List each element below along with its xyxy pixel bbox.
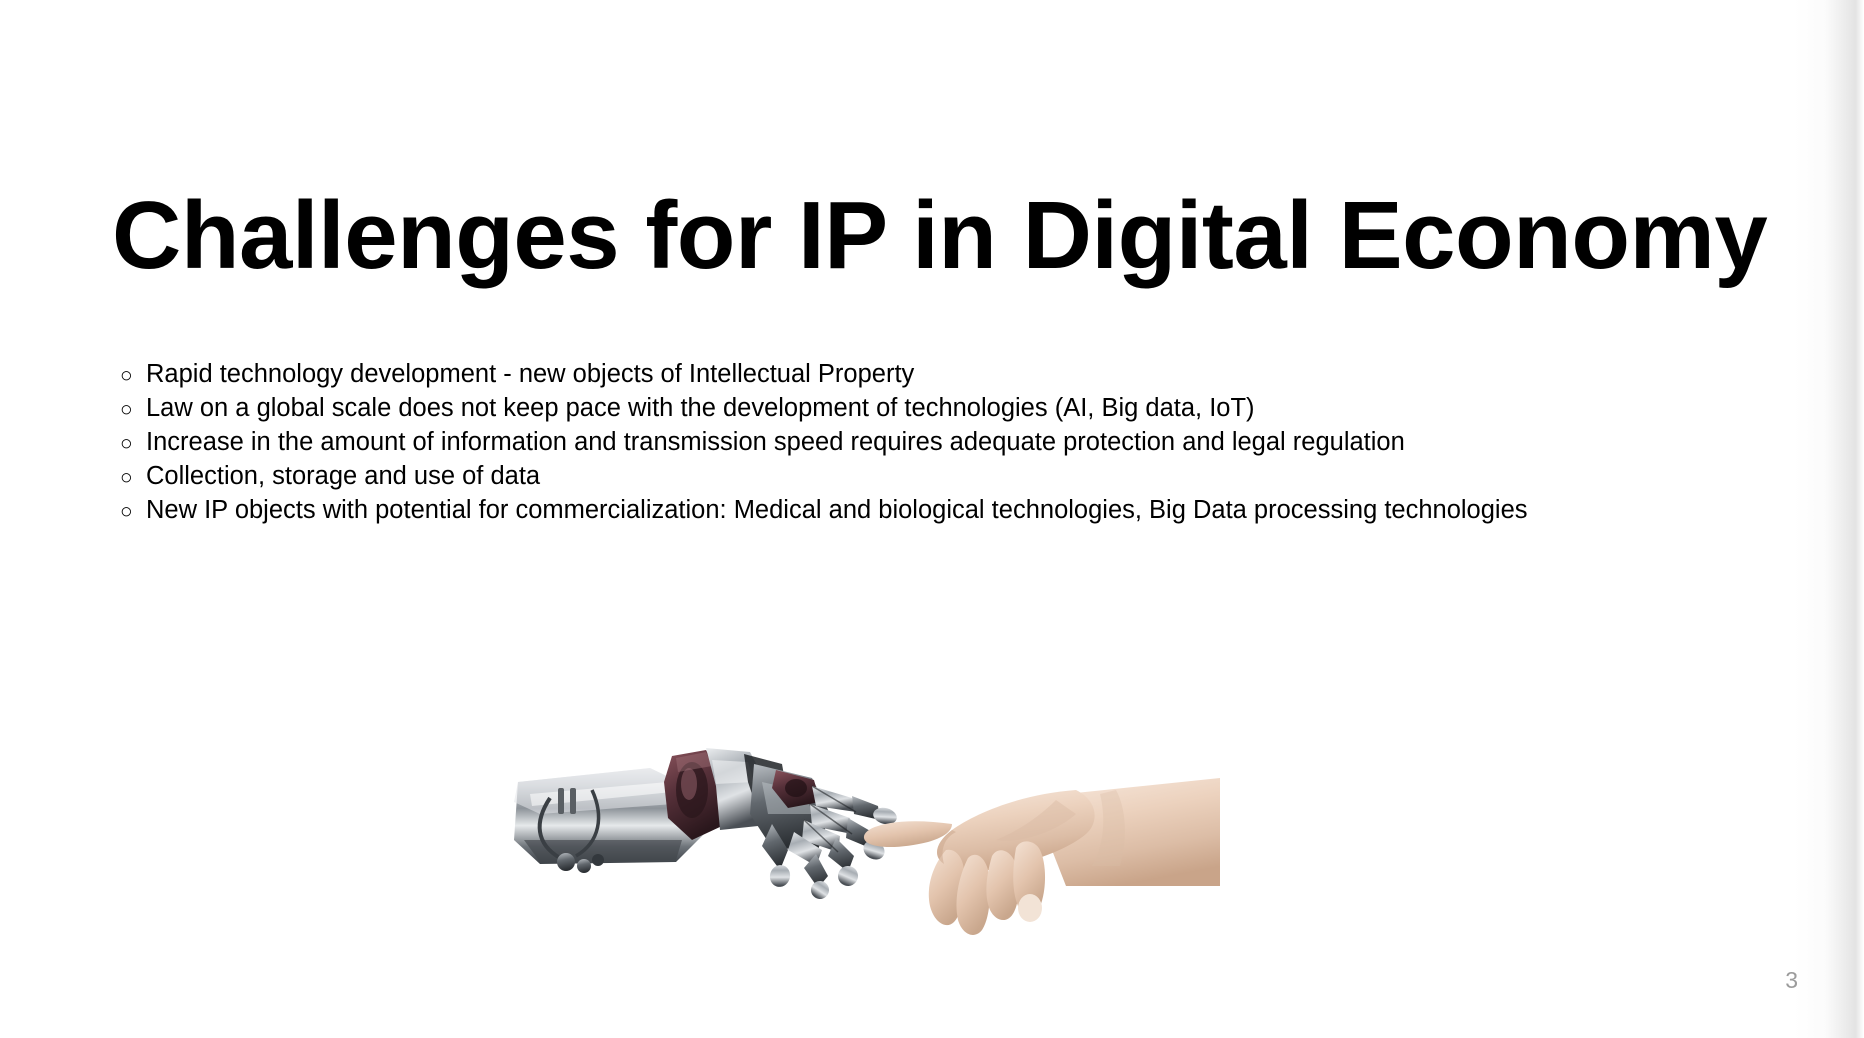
slide-canvas: Challenges for IP in Digital Economy ○ R…: [0, 0, 1864, 1038]
right-edge-gradient: [1794, 0, 1864, 1038]
hollow-circle-bullet-icon: ○: [120, 461, 146, 494]
list-item-label: New IP objects with potential for commer…: [146, 494, 1528, 527]
list-item: ○ New IP objects with potential for comm…: [120, 494, 1780, 528]
list-item-label: Collection, storage and use of data: [146, 460, 540, 493]
list-item: ○ Collection, storage and use of data: [120, 460, 1780, 494]
page-number: 3: [1785, 967, 1798, 994]
list-item-label: Increase in the amount of information an…: [146, 426, 1405, 459]
hollow-circle-bullet-icon: ○: [120, 359, 146, 392]
list-item: ○ Law on a global scale does not keep pa…: [120, 392, 1780, 426]
hollow-circle-bullet-icon: ○: [120, 495, 146, 528]
list-item: ○ Rapid technology development - new obj…: [120, 358, 1780, 392]
robot-arm: [514, 748, 899, 903]
list-item: ○ Increase in the amount of information …: [120, 426, 1780, 460]
robot-hand-and-human-hand-image: [500, 690, 1220, 950]
hollow-circle-bullet-icon: ○: [120, 427, 146, 460]
page-title: Challenges for IP in Digital Economy: [112, 186, 1752, 287]
list-item-label: Rapid technology development - new objec…: [146, 358, 914, 391]
human-hand: [864, 778, 1220, 935]
list-item-label: Law on a global scale does not keep pace…: [146, 392, 1255, 425]
bullet-list: ○ Rapid technology development - new obj…: [120, 358, 1780, 528]
hollow-circle-bullet-icon: ○: [120, 393, 146, 426]
